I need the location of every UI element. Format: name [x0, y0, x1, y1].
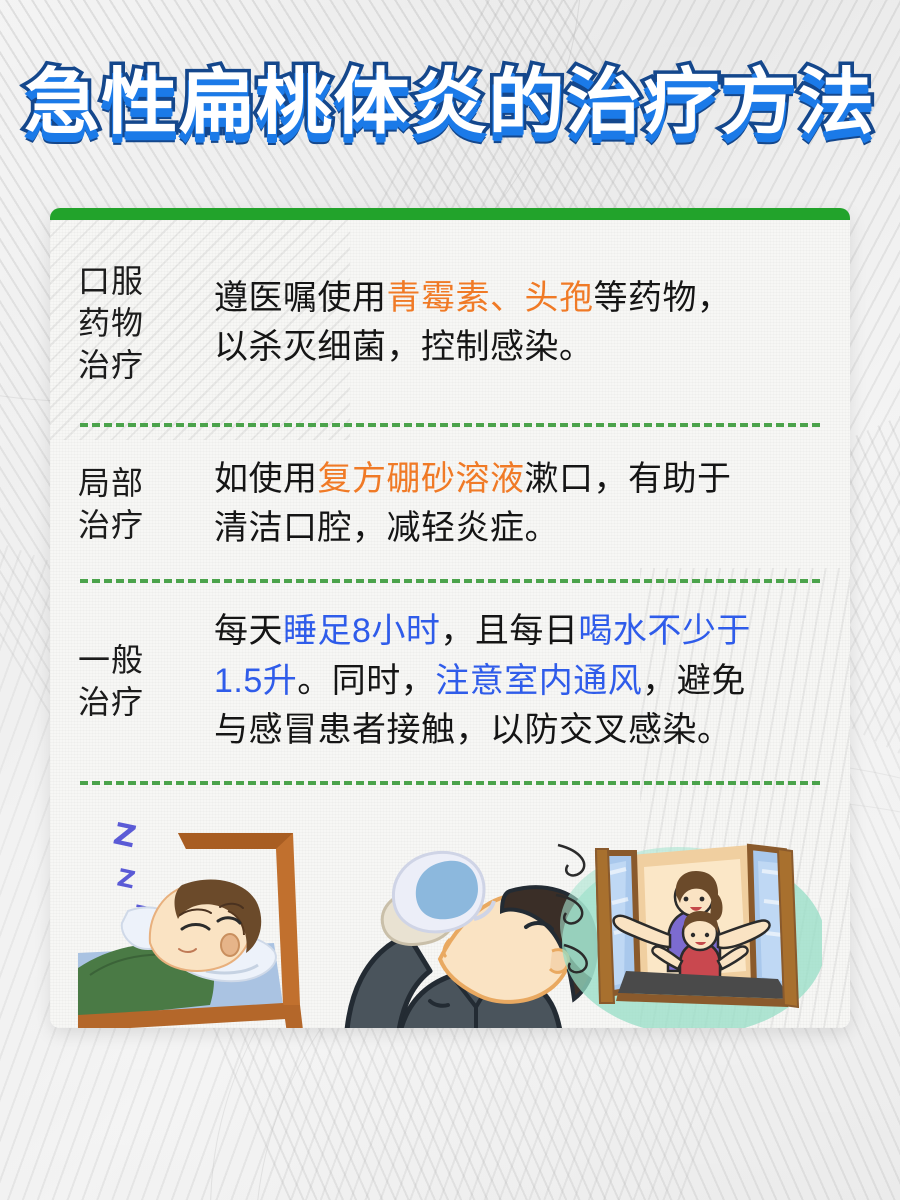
row-text-line: 如使用复方硼砂溶液漱口，有助于 [214, 455, 822, 504]
mother-eye-left [684, 897, 689, 902]
highlight-orange: 复方硼砂溶液 [318, 460, 525, 498]
row-label-oral-medication: 口服 药物 治疗 [78, 260, 188, 387]
row-label-line: 药物 [78, 302, 188, 344]
scene-open-window [556, 845, 822, 1028]
treatment-row-local: 局部 治疗 如使用复方硼砂溶液漱口，有助于 清洁口腔，减轻炎症。 [78, 427, 822, 580]
row-text-line: 清洁口腔，减轻炎症。 [214, 504, 822, 553]
svg-text:Z: Z [110, 817, 139, 856]
card-accent-bar [50, 208, 850, 220]
row-label-line: 一般 [78, 639, 188, 681]
row-text-line: 以杀灭细菌，控制感染。 [214, 323, 822, 372]
row-label-local: 局部 治疗 [78, 462, 188, 546]
highlight-blue: 睡足8小时 [283, 612, 440, 650]
row-label-general: 一般 治疗 [78, 639, 188, 723]
child-eye-right [705, 933, 709, 937]
bed-headboard-top [178, 833, 293, 849]
highlight-blue: 1.5升 [214, 662, 297, 700]
treatment-row-oral-medication: 口服 药物 治疗 遵医嘱使用青霉素、头孢等药物， 以杀灭细菌，控制感染。 [78, 220, 822, 423]
ear [221, 934, 239, 956]
bed-leg [283, 1005, 306, 1028]
page-title: 急性扁桃体炎的治疗方法 [24, 62, 875, 142]
illustration-svg: Z Z Z [78, 793, 822, 1028]
scene-drinking-water [346, 853, 596, 1028]
row-label-line: 口服 [78, 260, 188, 302]
row-text-line: 遵医嘱使用青霉素、头孢等药物， [214, 274, 822, 323]
mother-eye-right [700, 897, 705, 902]
row-text-line: 1.5升。同时，注意室内通风，避免 [214, 657, 822, 706]
row-text-line: 每天睡足8小时，且每日喝水不少于 [214, 607, 822, 656]
content-card: 口服 药物 治疗 遵医嘱使用青霉素、头孢等药物， 以杀灭细菌，控制感染。 局部 … [50, 208, 850, 1028]
highlight-blue: 注意室内通风 [435, 662, 642, 700]
treatment-row-general: 一般 治疗 每天睡足8小时，且每日喝水不少于 1.5升。同时，注意室内通风，避免… [78, 583, 822, 781]
row-text-line: 与感冒患者接触，以防交叉感染。 [214, 706, 822, 755]
row-label-line: 治疗 [78, 681, 188, 723]
row-label-line: 治疗 [78, 344, 188, 386]
row-label-line: 治疗 [78, 504, 188, 546]
illustration-area: Z Z Z [78, 793, 822, 1028]
highlight-blue: 喝水不少于 [578, 612, 751, 650]
row-label-line: 局部 [78, 462, 188, 504]
highlight-orange: 青霉素、头孢 [387, 279, 594, 317]
svg-text:Z: Z [115, 864, 138, 895]
row-divider-3 [80, 781, 820, 785]
row-text-general: 每天睡足8小时，且每日喝水不少于 1.5升。同时，注意室内通风，避免 与感冒患者… [214, 607, 822, 755]
scene-sleeping-person: Z Z Z [78, 817, 306, 1028]
child-eye-left [691, 933, 695, 937]
title-area: 急性扁桃体炎的治疗方法 [0, 62, 900, 142]
row-text-local: 如使用复方硼砂溶液漱口，有助于 清洁口腔，减轻炎症。 [214, 455, 822, 554]
row-text-oral-medication: 遵医嘱使用青霉素、头孢等药物， 以杀灭细菌，控制感染。 [214, 274, 822, 373]
